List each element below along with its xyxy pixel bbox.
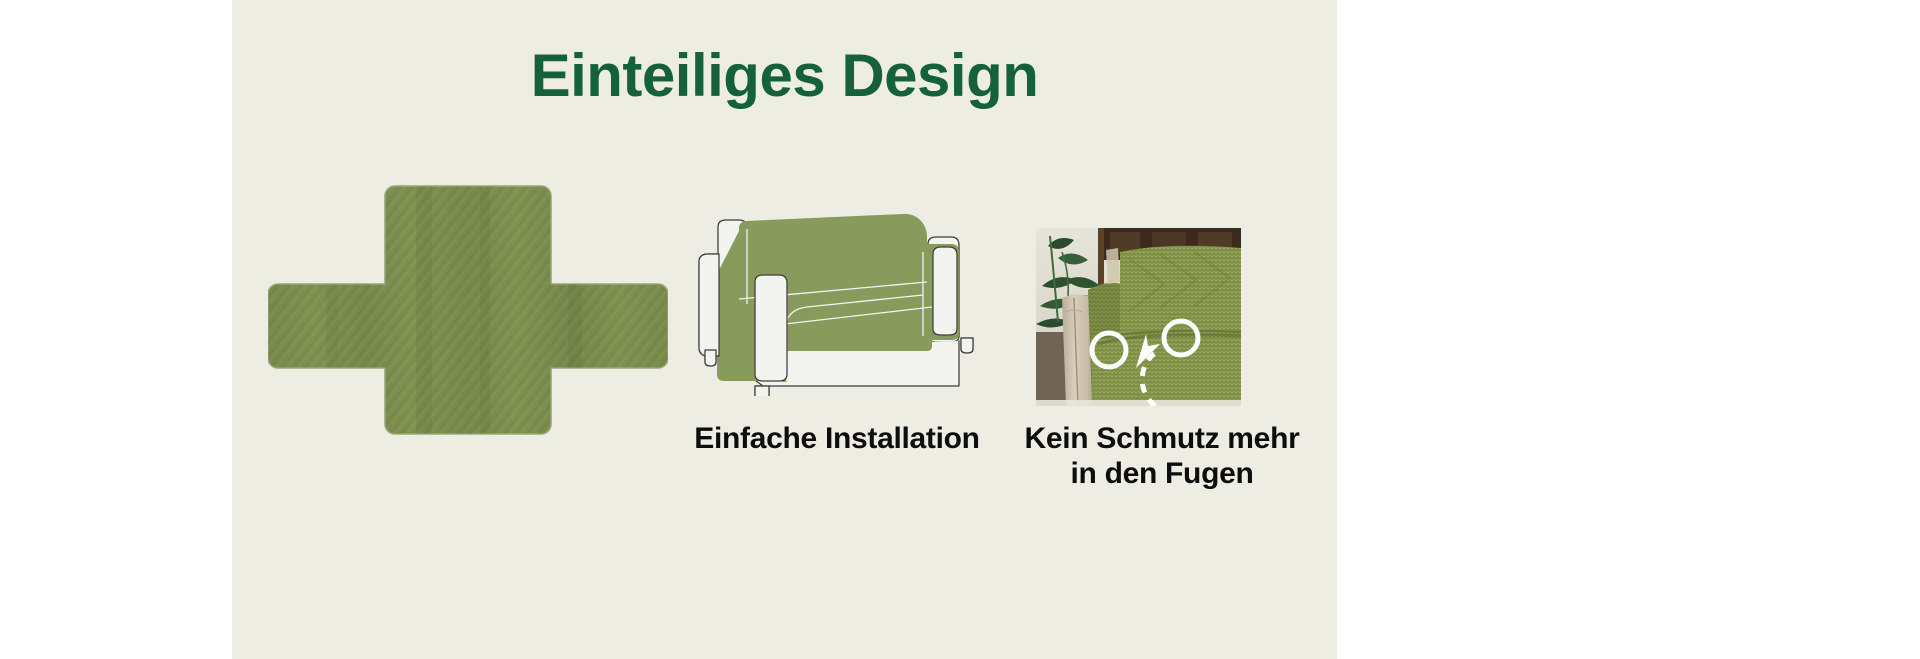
caption-line-2: in den Fugen <box>992 457 1332 492</box>
cover-shading <box>268 180 668 440</box>
photo-fringe <box>1106 248 1120 284</box>
caption-einfache-installation: Einfache Installation <box>657 422 1017 457</box>
sofa-right-arm-inner-pillar <box>933 247 957 335</box>
sofa-left-arm-inner-pillar <box>755 275 787 381</box>
photo-cabinet-post <box>1098 228 1104 288</box>
page-title: Einteiliges Design <box>232 44 1337 107</box>
sofa-leg-front-right-2 <box>755 386 769 396</box>
caption-kein-schmutz: Kein Schmutz mehr in den Fugen <box>992 422 1332 492</box>
page-root: Einteiliges Design <box>0 0 1920 659</box>
sofa-illustration: .ln { fill:#f3f3ef; stroke:#3c3c3c; stro… <box>687 196 987 396</box>
flat-cover-svg <box>268 180 668 440</box>
content-panel: Einteiliges Design <box>232 0 1337 659</box>
sofa-svg: .ln { fill:#f3f3ef; stroke:#3c3c3c; stro… <box>687 196 987 396</box>
photo-bottom-strip <box>1036 400 1241 406</box>
sofa-leg-front-left-2 <box>705 350 716 366</box>
sofa-leg-right-2 <box>961 338 973 353</box>
product-photo <box>1036 228 1241 406</box>
flat-cover-illustration <box>268 180 668 440</box>
caption-line-1: Kein Schmutz mehr <box>992 422 1332 457</box>
product-photo-svg <box>1036 228 1241 406</box>
sofa-left-arm-front-edge <box>699 254 719 356</box>
